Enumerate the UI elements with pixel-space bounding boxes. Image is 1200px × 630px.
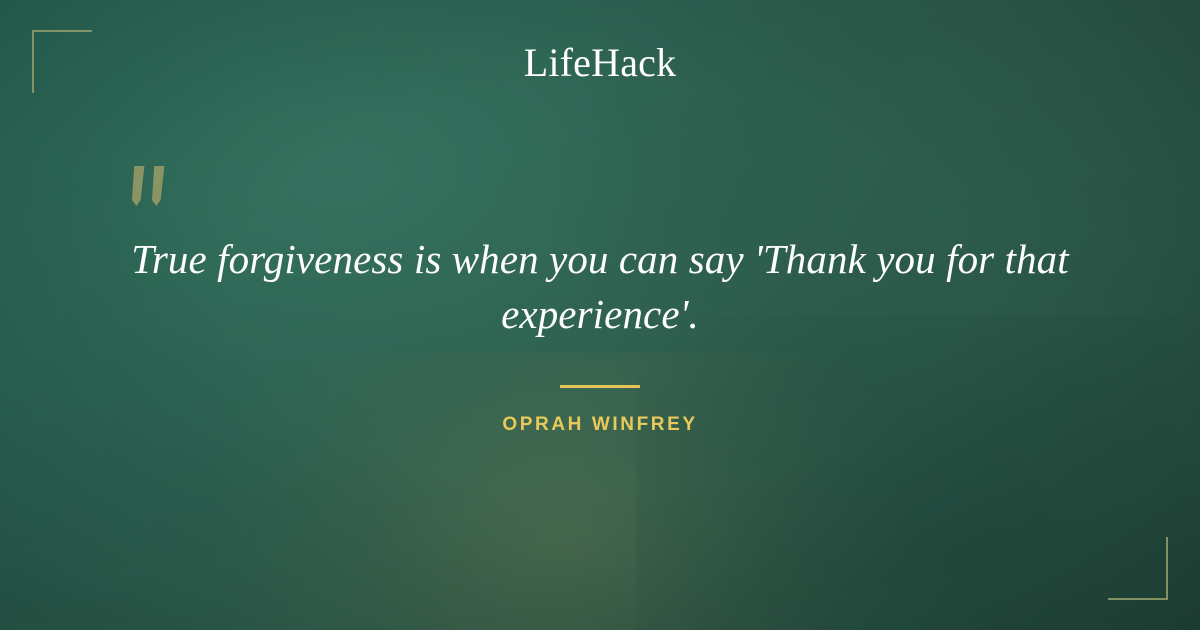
quote-text: True forgiveness is when you can say 'Th… (120, 160, 1080, 341)
brand-logo: LifeHack (0, 40, 1200, 86)
corner-bracket-bottom-right-icon (1108, 537, 1168, 600)
quote-content: True forgiveness is when you can say 'Th… (0, 160, 1200, 436)
double-quote-icon (128, 164, 178, 216)
quote-author: OPRAH WINFREY (100, 414, 1100, 436)
quote-card: LifeHack True forgiveness is when you ca… (0, 0, 1200, 630)
divider-rule (560, 385, 640, 388)
